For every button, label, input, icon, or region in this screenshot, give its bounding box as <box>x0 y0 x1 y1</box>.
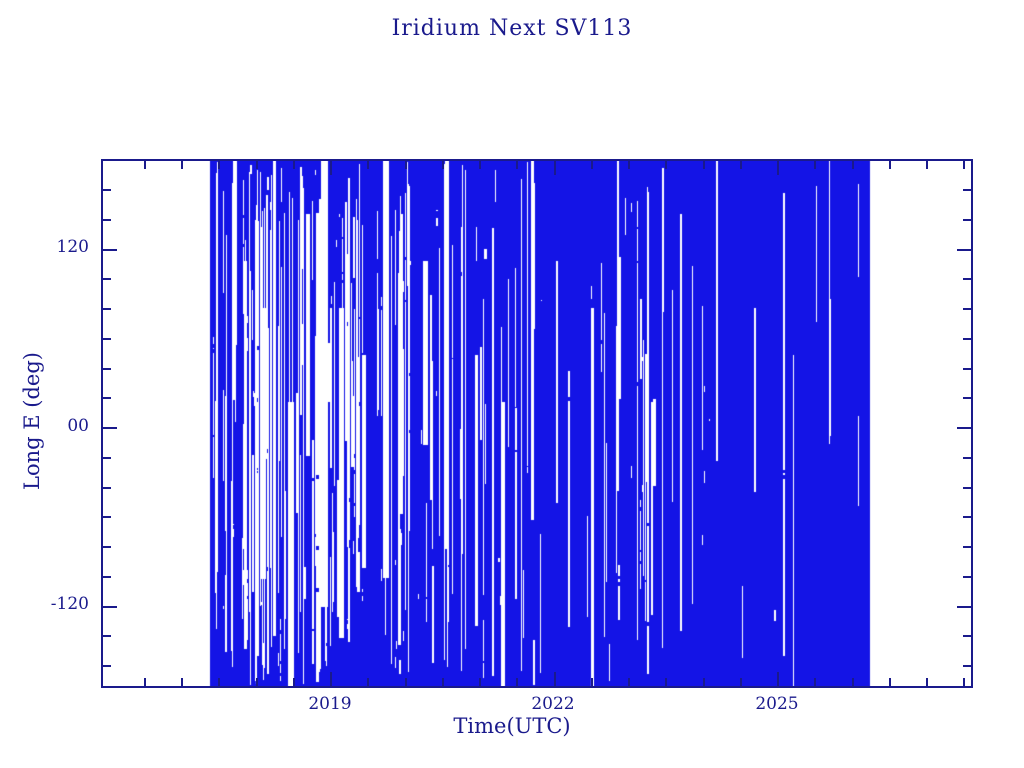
y-tick-minor-right--140 <box>963 635 971 637</box>
x-tick-minor-top-2017.5 <box>218 161 220 169</box>
x-tick-minor-top-2021 <box>479 161 481 169</box>
x-tick-minor-top-2027.5 <box>963 161 965 169</box>
y-tick-major-0 <box>103 427 117 429</box>
y-tick-minor-140 <box>103 219 111 221</box>
x-tick-minor-top-2026 <box>852 161 854 169</box>
x-tick-minor-top-2027 <box>926 161 928 169</box>
y-tick-minor-100 <box>103 278 111 280</box>
x-tick-minor-2021.5 <box>516 678 518 686</box>
y-tick-minor-40 <box>103 368 111 370</box>
y-tick-major--120 <box>103 606 117 608</box>
y-tick-minor--40 <box>103 487 111 489</box>
y-tick-minor-right--160 <box>963 665 971 667</box>
x-tick-minor-2023 <box>628 678 630 686</box>
y-tick-minor--80 <box>103 546 111 548</box>
y-tick-minor-160 <box>103 189 111 191</box>
x-tick-major-top-2022 <box>554 161 556 175</box>
y-tick-major-120 <box>103 249 117 251</box>
y-tick-minor-right--100 <box>963 576 971 578</box>
y-tick-major-right-120 <box>957 249 971 251</box>
x-tick-minor-2027.5 <box>963 678 965 686</box>
x-tick-minor-top-2024 <box>703 161 705 169</box>
x-tick-minor-2026 <box>852 678 854 686</box>
y-tick-minor-right-60 <box>963 338 971 340</box>
x-tick-minor-top-2024.5 <box>740 161 742 169</box>
x-tick-minor-top-2018.5 <box>293 161 295 169</box>
x-tick-minor-2018 <box>256 678 258 686</box>
x-tick-minor-top-2016.5 <box>144 161 146 169</box>
x-tick-minor-2026.5 <box>889 678 891 686</box>
data-series-longitude <box>103 161 971 686</box>
x-tick-minor-2018.5 <box>293 678 295 686</box>
y-tick-minor-right-20 <box>963 397 971 399</box>
x-tick-minor-2027 <box>926 678 928 686</box>
x-tick-minor-top-2020 <box>405 161 407 169</box>
y-tick-minor--160 <box>103 665 111 667</box>
x-tick-minor-2017.5 <box>218 678 220 686</box>
y-axis-title: Long E (deg) <box>20 311 44 531</box>
y-tick-minor--20 <box>103 457 111 459</box>
x-tick-minor-top-2018 <box>256 161 258 169</box>
y-tick-minor-right--20 <box>963 457 971 459</box>
x-tick-minor-2016.5 <box>144 678 146 686</box>
chart-title: Iridium Next SV113 <box>0 16 1024 41</box>
x-axis-title: Time(UTC) <box>0 714 1024 738</box>
x-tick-label-2: 2025 <box>737 694 817 714</box>
y-tick-minor-right-100 <box>963 278 971 280</box>
y-tick-minor-right-40 <box>963 368 971 370</box>
y-tick-minor-right-80 <box>963 308 971 310</box>
x-tick-minor-top-2023.5 <box>665 161 667 169</box>
x-tick-minor-2023.5 <box>665 678 667 686</box>
x-tick-major-2022 <box>554 672 556 686</box>
x-tick-major-top-2019 <box>330 161 332 175</box>
y-tick-minor--100 <box>103 576 111 578</box>
y-tick-minor--140 <box>103 635 111 637</box>
figure-canvas: Iridium Next SV113 12000-120201920222025… <box>0 0 1024 768</box>
y-tick-minor-60 <box>103 338 111 340</box>
x-tick-major-2025 <box>777 672 779 686</box>
plot-area <box>101 159 973 688</box>
x-tick-minor-2022.5 <box>591 678 593 686</box>
x-tick-minor-top-2025.5 <box>814 161 816 169</box>
x-tick-minor-2020.5 <box>442 678 444 686</box>
y-tick-minor-right--40 <box>963 487 971 489</box>
y-tick-label-0: 120 <box>19 237 89 257</box>
y-tick-minor-right-160 <box>963 189 971 191</box>
x-tick-label-1: 2022 <box>513 694 593 714</box>
x-tick-major-top-2025 <box>777 161 779 175</box>
x-tick-minor-2019.5 <box>367 678 369 686</box>
x-tick-minor-top-2017 <box>181 161 183 169</box>
y-tick-minor-right--60 <box>963 516 971 518</box>
y-tick-minor-right-140 <box>963 219 971 221</box>
y-tick-major-right--120 <box>957 606 971 608</box>
x-tick-minor-top-2026.5 <box>889 161 891 169</box>
x-tick-minor-top-2022.5 <box>591 161 593 169</box>
y-tick-minor-80 <box>103 308 111 310</box>
x-tick-minor-2024 <box>703 678 705 686</box>
x-tick-minor-top-2021.5 <box>516 161 518 169</box>
x-tick-minor-top-2020.5 <box>442 161 444 169</box>
y-tick-major-right-0 <box>957 427 971 429</box>
x-tick-minor-2024.5 <box>740 678 742 686</box>
y-tick-minor-20 <box>103 397 111 399</box>
x-tick-minor-2025.5 <box>814 678 816 686</box>
y-tick-minor--60 <box>103 516 111 518</box>
x-tick-minor-2017 <box>181 678 183 686</box>
y-tick-label-2: -120 <box>19 594 89 614</box>
x-tick-label-0: 2019 <box>290 694 370 714</box>
y-tick-minor-right--80 <box>963 546 971 548</box>
x-tick-minor-top-2023 <box>628 161 630 169</box>
x-tick-minor-2021 <box>479 678 481 686</box>
x-tick-minor-2020 <box>405 678 407 686</box>
x-tick-minor-top-2019.5 <box>367 161 369 169</box>
x-tick-major-2019 <box>330 672 332 686</box>
